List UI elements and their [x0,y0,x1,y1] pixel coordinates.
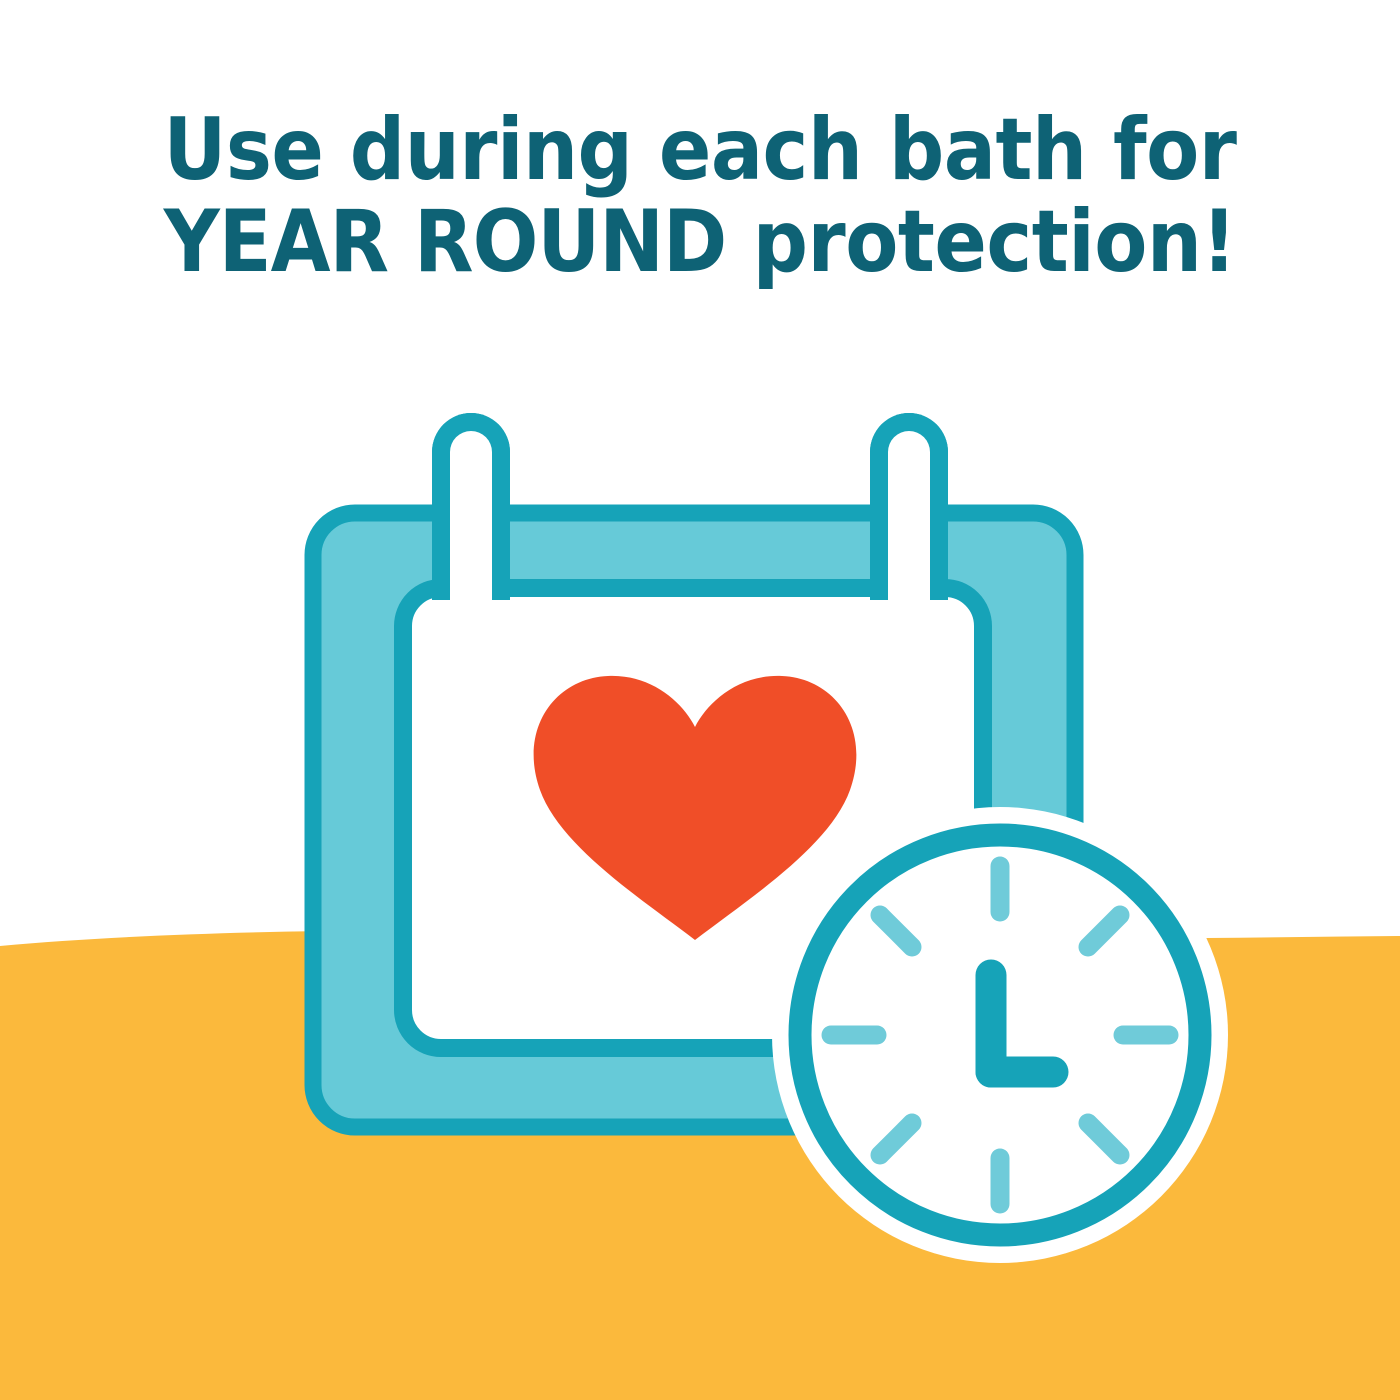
calendar-ring-right-arch [870,413,948,520]
clock-icon [772,807,1228,1263]
headline-line-2-rest: protection! [726,192,1236,292]
headline: Use during each bath for YEAR ROUND prot… [0,104,1400,288]
headline-line-2: YEAR ROUND protection! [0,196,1400,288]
headline-emphasis: YEAR ROUND [164,192,726,292]
ring-left-arch-inner [450,431,492,520]
poster-canvas: Use during each bath for YEAR ROUND prot… [0,0,1400,1400]
headline-line-1: Use during each bath for [0,104,1400,196]
calendar-ring-left-arch [432,413,510,520]
ring-right-arch-inner [888,431,930,520]
